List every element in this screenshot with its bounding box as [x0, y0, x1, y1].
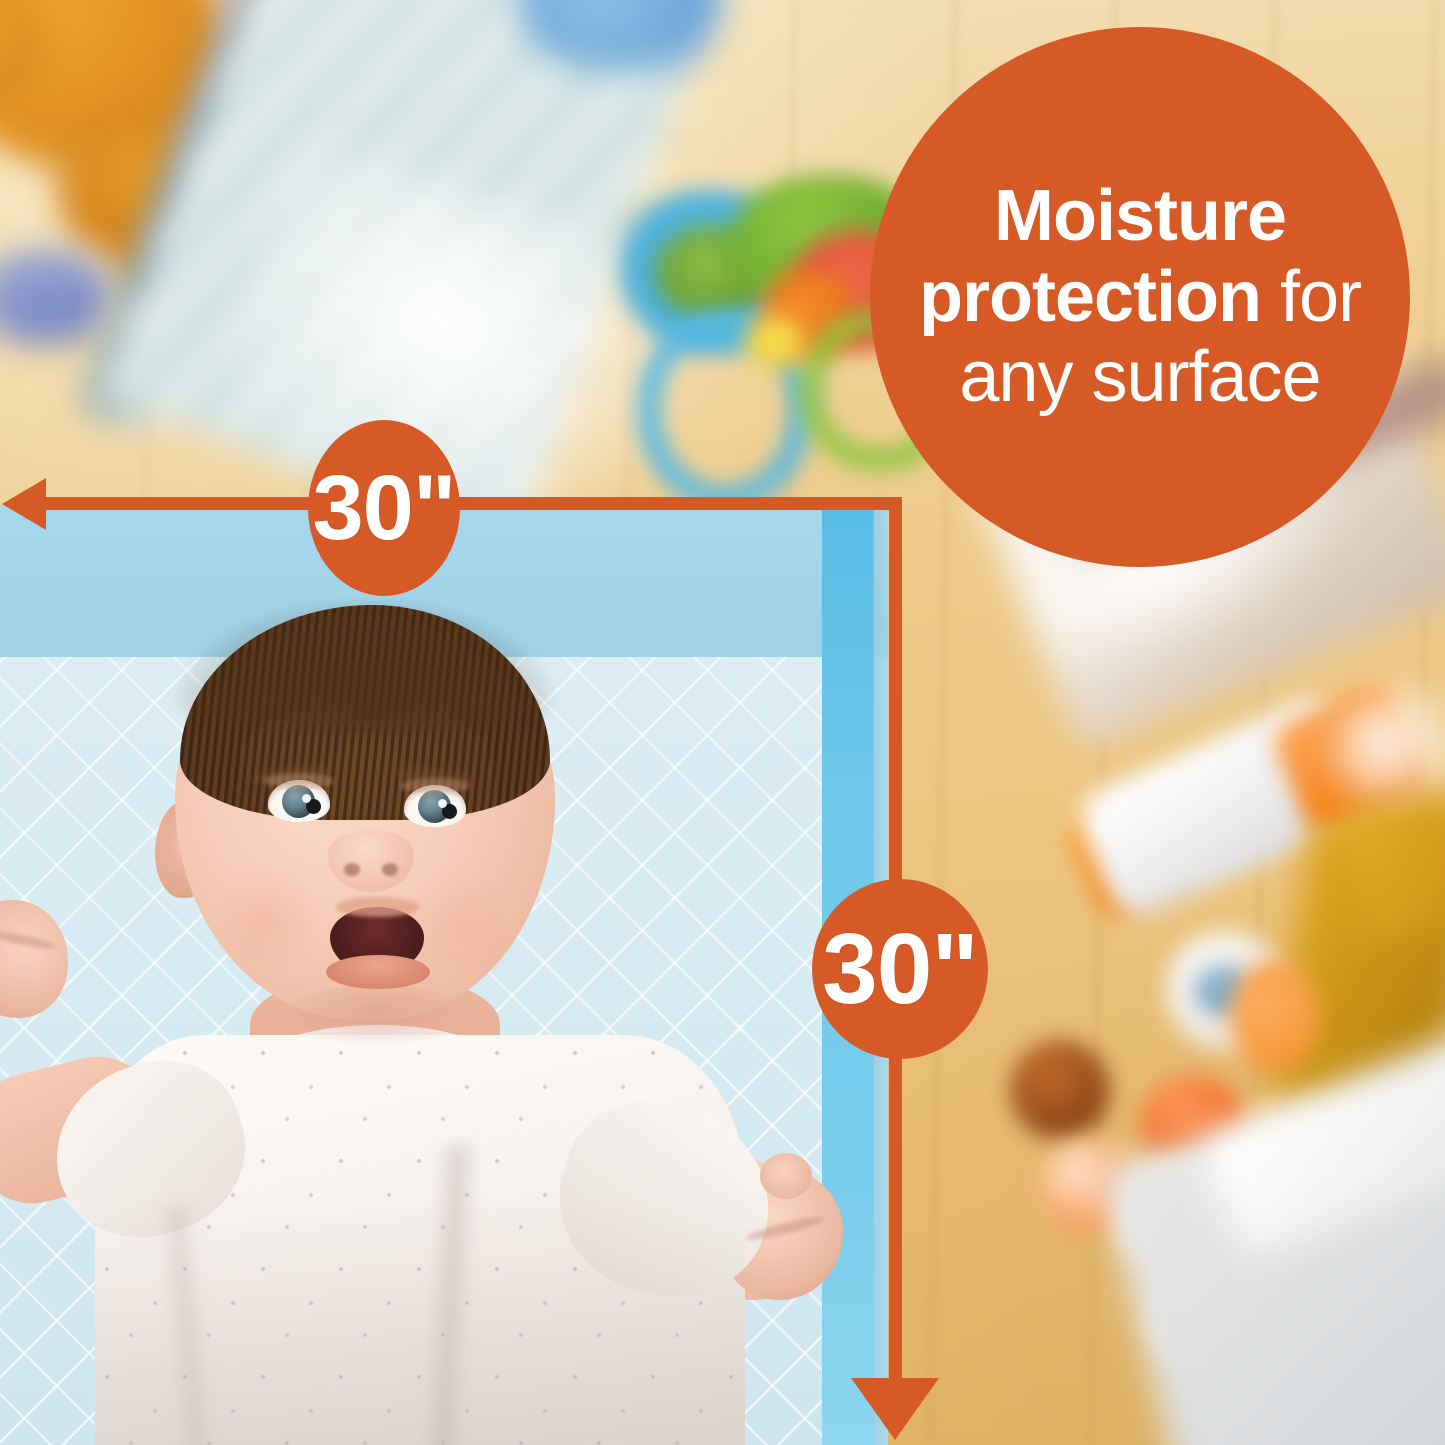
- baby-lower-lip: [326, 955, 430, 989]
- callout-line-3: any surface: [959, 337, 1320, 417]
- baby-iris-right: [418, 790, 451, 823]
- baby-fist-left: [0, 900, 68, 1018]
- baby-nostril-left: [344, 863, 360, 876]
- baby-upper-lip: [336, 897, 420, 917]
- baby-eyelid-right: [400, 778, 470, 794]
- feature-callout-text: Moisture protection for any surface: [919, 176, 1361, 418]
- baby-eye-highlight-right: [438, 799, 447, 808]
- feature-callout-badge: Moisture protection for any surface: [870, 27, 1410, 567]
- baby-iris-left: [282, 785, 315, 818]
- callout-line-2-bold: protection: [919, 257, 1261, 337]
- width-dimension-badge: 30": [308, 420, 460, 596]
- yellow-bead-toy: [745, 315, 805, 370]
- product-lifestyle-image: 30" 30" Moisture protection for any surf…: [0, 0, 1445, 1445]
- baby-nostril-right: [382, 863, 398, 876]
- height-dimension-label: 30": [822, 912, 978, 1027]
- baby-thumb-right: [760, 1153, 812, 1199]
- baby-subject: [0, 505, 900, 1445]
- height-dimension-badge: 30": [812, 879, 988, 1059]
- height-arrow-head-icon: [851, 1378, 939, 1440]
- baby-eyelid-left: [264, 773, 334, 789]
- width-arrow-line: [40, 497, 902, 510]
- orange-ring-toy: [1230, 960, 1320, 1070]
- teddy-bear-blue-accent: [0, 250, 110, 345]
- callout-line-2-light: for: [1280, 257, 1361, 337]
- width-arrow-head-icon: [2, 478, 46, 530]
- baby-eye-highlight-left: [302, 794, 311, 803]
- dark-wooden-bead: [1010, 1040, 1110, 1140]
- width-dimension-label: 30": [313, 456, 456, 561]
- baby-cheek-left: [212, 865, 320, 977]
- baby-hair-wispy-edge: [176, 601, 554, 731]
- callout-line-1: Moisture: [994, 176, 1286, 256]
